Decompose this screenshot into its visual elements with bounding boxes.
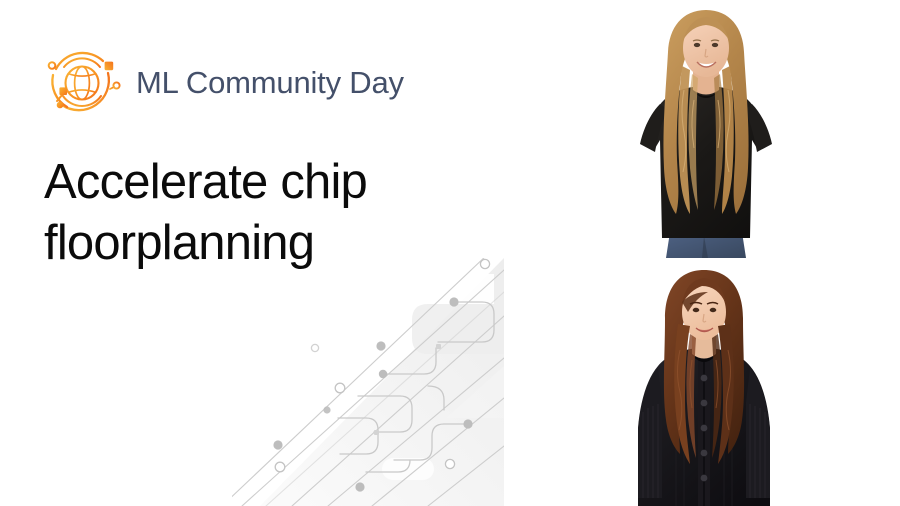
circuit-node-hollow: [275, 259, 489, 506]
globe-orbit-icon: [40, 43, 124, 123]
brand-lockup: ML Community Day: [40, 43, 404, 123]
brand-name: ML Community Day: [136, 65, 404, 101]
circuit-pad: [374, 344, 441, 435]
presentation-slide: ML Community Day Accelerate chip floorpl…: [0, 0, 900, 506]
speaker-portrait-1: [620, 0, 792, 258]
page-title: Accelerate chip floorplanning: [44, 152, 514, 274]
circuit-trace-graphic: [232, 258, 504, 506]
speaker-portrait-2: [618, 262, 790, 506]
circuit-node-filled: [273, 297, 472, 491]
